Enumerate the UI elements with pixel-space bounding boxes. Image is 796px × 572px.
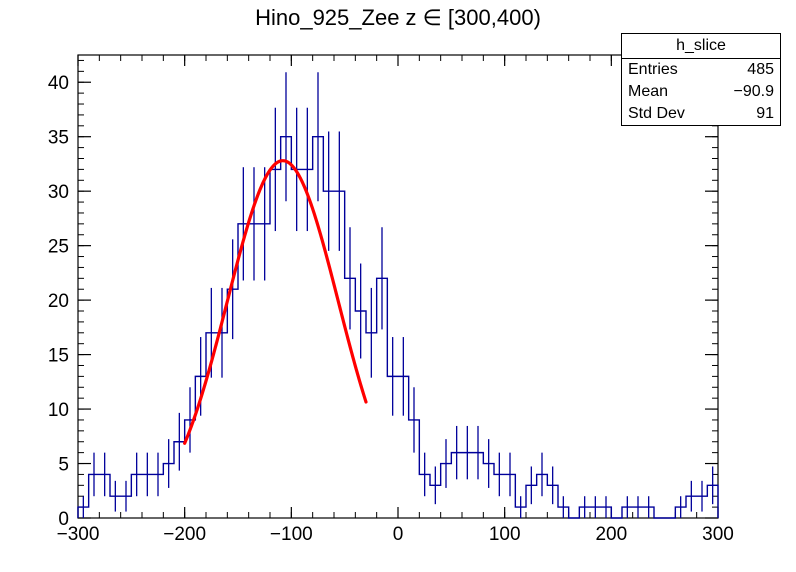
stats-row-label: Std Dev: [628, 103, 685, 125]
y-tick-label: 40: [48, 73, 69, 94]
stats-row: Mean−90.9: [622, 81, 780, 103]
y-tick-label: 10: [48, 400, 69, 421]
y-tick-label: 0: [58, 509, 69, 530]
stats-box-title: h_slice: [622, 34, 780, 59]
x-tick-label: 200: [595, 524, 627, 545]
y-tick-label: 25: [48, 237, 69, 258]
y-tick-label: 5: [58, 455, 69, 476]
stats-row-value: 485: [747, 59, 774, 81]
stats-row: Std Dev91: [622, 103, 780, 125]
stats-row-value: 91: [756, 103, 774, 125]
y-tick-label: 20: [48, 291, 69, 312]
x-tick-label: −100: [270, 524, 313, 545]
stats-row-label: Mean: [628, 81, 668, 103]
root-canvas: Hino_925_Zee z ∈ [300,400) −300−200−1000…: [0, 0, 796, 572]
histogram-outline: [78, 137, 718, 518]
page-title: Hino_925_Zee z ∈ [300,400): [255, 5, 541, 30]
stats-row-value: −90.9: [734, 81, 774, 103]
x-tick-label: 100: [489, 524, 521, 545]
error-bars: [83, 72, 712, 518]
y-axis-tick-labels: 0510152025303540: [48, 73, 69, 530]
stats-box-rows: Entries485Mean−90.9Std Dev91: [622, 59, 780, 125]
x-tick-label: 300: [702, 524, 734, 545]
y-tick-label: 15: [48, 346, 69, 367]
y-tick-label: 35: [48, 128, 69, 149]
stats-row-label: Entries: [628, 59, 678, 81]
x-tick-label: −200: [163, 524, 206, 545]
x-axis-tick-labels: −300−200−1000100200300: [57, 524, 734, 545]
histogram-steps: [78, 137, 718, 518]
y-tick-label: 30: [48, 182, 69, 203]
stats-box: h_slice Entries485Mean−90.9Std Dev91: [621, 33, 781, 126]
x-tick-label: 0: [393, 524, 404, 545]
stats-row: Entries485: [622, 59, 780, 81]
